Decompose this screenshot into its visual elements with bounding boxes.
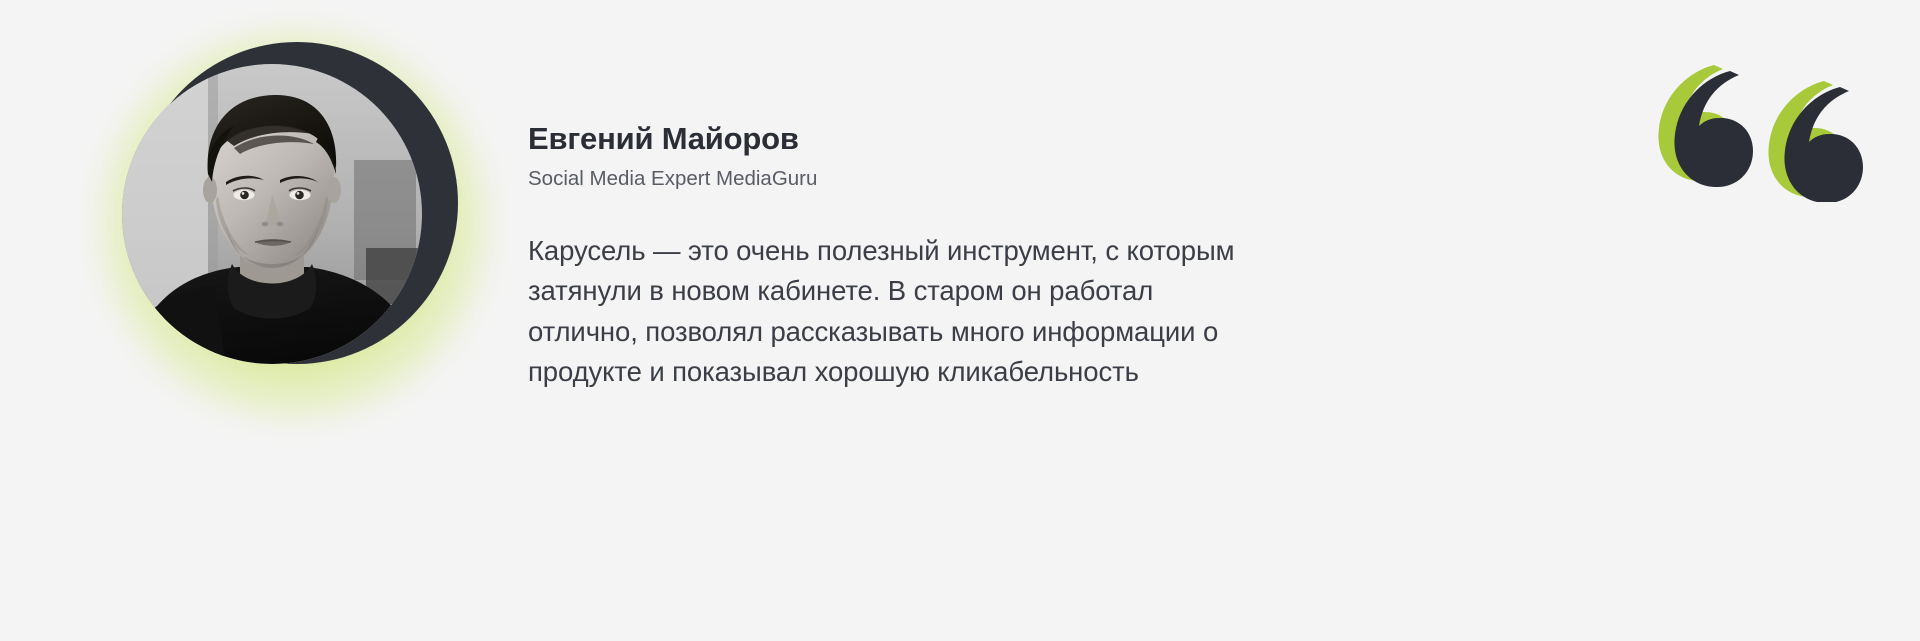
quote-line: продукте и показывал хорошую кликабельно… [528, 352, 1458, 392]
testimonial-card: Евгений Майоров Social Media Expert Medi… [0, 0, 1920, 641]
avatar-photo [122, 64, 422, 364]
double-quote-icon [1655, 62, 1885, 202]
quote-mark-dark [1674, 71, 1863, 202]
person-name: Евгений Майоров [528, 120, 1458, 157]
quote-line: Карусель — это очень полезный инструмент… [528, 231, 1458, 271]
quote-line: отлично, позволял рассказывать много инф… [528, 312, 1458, 352]
person-role: Social Media Expert MediaGuru [528, 166, 1458, 192]
quote-text: Карусель — это очень полезный инструмент… [528, 231, 1458, 393]
quote-line: затянули в новом кабинете. В старом он р… [528, 271, 1458, 311]
testimonial-text-column: Евгений Майоров Social Media Expert Medi… [528, 120, 1458, 393]
avatar [98, 28, 490, 420]
